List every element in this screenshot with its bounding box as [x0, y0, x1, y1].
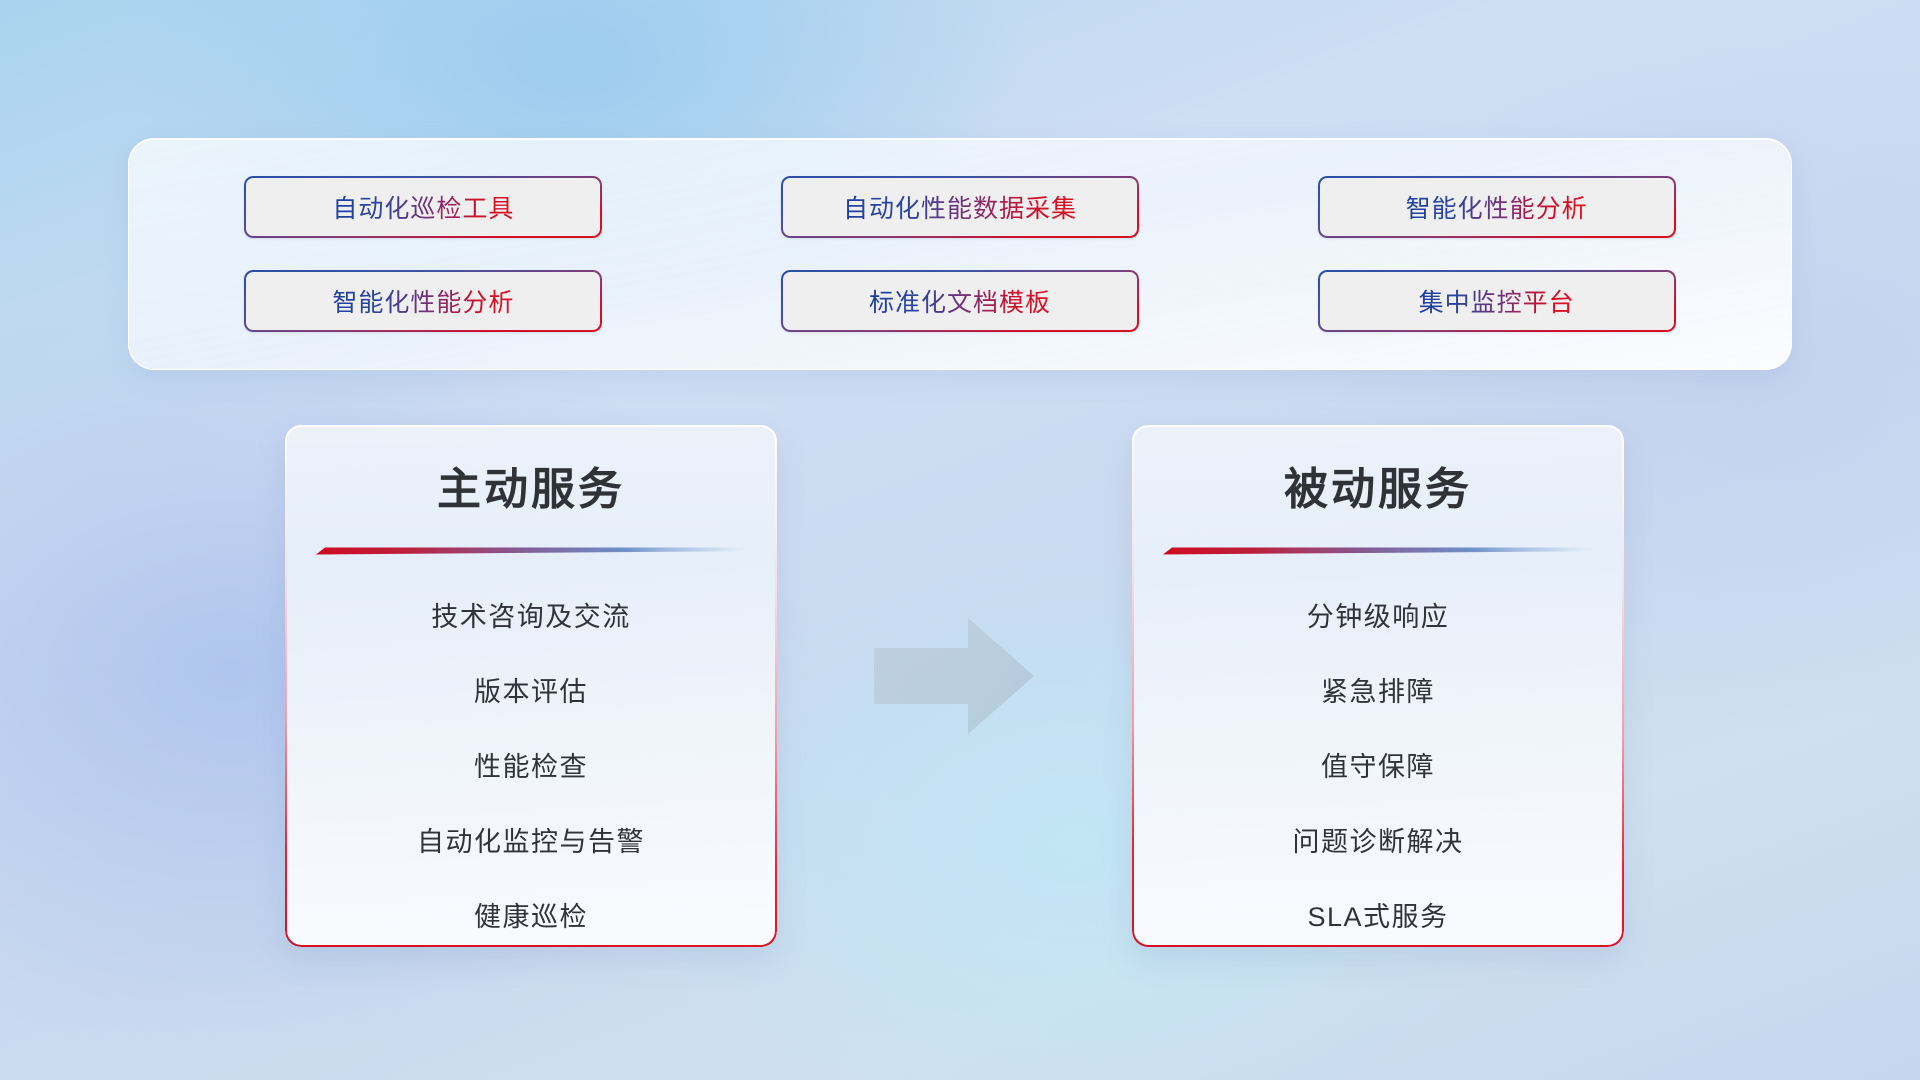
passive-service-card: 被动服务 分钟级响应 紧急排障 值守保障 — [1132, 425, 1624, 947]
passive-card-divider — [1163, 545, 1593, 556]
active-service-title: 主动服务 — [285, 453, 777, 517]
list-item[interactable]: SLA式服务 — [1156, 890, 1600, 945]
capability-chip-label: 标准化文档模板 — [869, 283, 1051, 319]
capability-chip-3[interactable]: 智能化性能分析 — [1318, 176, 1676, 238]
passive-service-list: 分钟级响应 紧急排障 值守保障 问题诊断解决 SLA式服务 — [1132, 590, 1624, 945]
list-item[interactable]: 自动化监控与告警 — [309, 815, 753, 870]
capability-panel: 自动化巡检工具 自动化性能数据采集 智能化性能分析 智能化性能分析 标准化文档模… — [128, 138, 1792, 370]
right-arrow-icon — [872, 614, 1036, 738]
passive-service-title: 被动服务 — [1132, 453, 1624, 517]
capability-chip-label: 智能化性能分析 — [1406, 189, 1588, 225]
list-item[interactable]: 健康巡检 — [309, 890, 753, 945]
list-item[interactable]: 值守保障 — [1156, 740, 1600, 795]
capability-chip-label: 自动化巡检工具 — [332, 189, 514, 225]
list-item[interactable]: 紧急排障 — [1156, 665, 1600, 720]
capability-chip-5[interactable]: 标准化文档模板 — [781, 270, 1139, 332]
list-item[interactable]: 版本评估 — [309, 665, 753, 720]
capability-chip-2[interactable]: 自动化性能数据采集 — [781, 176, 1139, 238]
capability-chip-6[interactable]: 集中监控平台 — [1318, 270, 1676, 332]
diagram-canvas: 自动化巡检工具 自动化性能数据采集 智能化性能分析 智能化性能分析 标准化文档模… — [0, 0, 1920, 1080]
capability-chip-1[interactable]: 自动化巡检工具 — [244, 176, 602, 238]
list-item[interactable]: 问题诊断解决 — [1156, 815, 1600, 870]
active-service-list: 技术咨询及交流 版本评估 性能检查 自动化监控与告警 健康巡检 — [285, 590, 777, 945]
capability-chip-4[interactable]: 智能化性能分析 — [244, 270, 602, 332]
list-item[interactable]: 性能检查 — [309, 740, 753, 795]
capability-chip-label: 智能化性能分析 — [332, 283, 514, 319]
active-service-card: 主动服务 技术咨询及交流 版本评估 性能检查 — [285, 425, 777, 947]
list-item[interactable]: 分钟级响应 — [1156, 590, 1600, 645]
capability-chip-label: 集中监控平台 — [1419, 283, 1575, 319]
active-card-divider — [316, 545, 746, 556]
capability-chip-label: 自动化性能数据采集 — [843, 189, 1077, 225]
list-item[interactable]: 技术咨询及交流 — [309, 590, 753, 645]
